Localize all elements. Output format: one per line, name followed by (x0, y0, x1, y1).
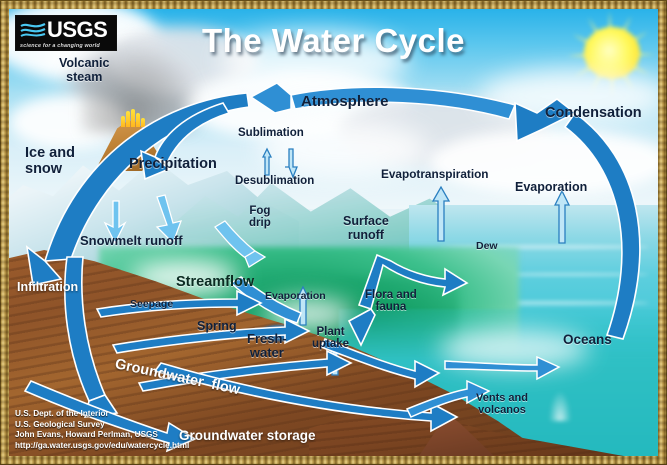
water-cycle-poster: Volcanic steam Ice and snow Precipitatio… (0, 0, 667, 465)
desublimation-down-arrow (285, 149, 297, 177)
label-surface-runoff: Surface runoff (343, 215, 389, 242)
usgs-tagline: science for a changing world (20, 43, 100, 49)
label-freshwater: Fresh- water (247, 332, 287, 360)
label-fog-drip: Fog drip (249, 205, 271, 230)
credits-block: U.S. Dept. of the Interior U.S. Geologic… (15, 409, 189, 452)
label-oceans: Oceans (563, 333, 612, 348)
surface-runoff-down-arrowhead (349, 309, 375, 345)
usgs-wordmark: USGS (47, 17, 107, 43)
label-seepage: Seepage (130, 299, 173, 310)
diagram-canvas: Volcanic steam Ice and snow Precipitatio… (9, 9, 658, 456)
evapotranspiration-up-arrow (433, 187, 449, 241)
label-flora-and-fauna: Flora and fauna (365, 289, 417, 314)
label-evaporation-right: Evaporation (515, 181, 587, 195)
infiltration-arrow (65, 257, 105, 401)
credit-line-2: U.S. Geological Survey (15, 420, 189, 431)
condensation-arc-arrow (565, 113, 640, 339)
label-evapotranspiration: Evapotranspiration (381, 168, 489, 181)
label-atmosphere: Atmosphere (301, 94, 389, 110)
label-evaporation-small: Evaporation (265, 291, 326, 302)
label-volcanic-steam: Volcanic steam (59, 57, 109, 84)
atmosphere-arrowhead (251, 83, 291, 113)
coastal-discharge-arrow (445, 357, 559, 379)
label-plant-uptake: Plant uptake (312, 326, 349, 351)
label-groundwater-storage: Groundwater storage (179, 429, 316, 444)
usgs-logo: USGS science for a changing world (15, 15, 117, 51)
usgs-wave-icon (20, 21, 46, 39)
label-snowmelt-runoff: Snowmelt runoff (80, 234, 183, 248)
label-infiltration: Infiltration (17, 281, 78, 295)
label-precipitation: Precipitation (129, 157, 217, 173)
label-condensation: Condensation (545, 106, 642, 122)
sublimation-up-arrow (263, 149, 271, 175)
credit-line-1: U.S. Dept. of the Interior (15, 409, 189, 420)
credit-line-3: John Evans, Howard Perlman, USGS (15, 430, 189, 441)
label-spring: Spring (197, 320, 237, 334)
label-sublimation: Sublimation (238, 127, 304, 139)
credit-url: http://ga.water.usgs.gov/edu/watercycle.… (15, 441, 189, 452)
label-vents-and-volcanos: Vents and volcanos (476, 393, 528, 417)
label-streamflow: Streamflow (176, 275, 254, 291)
label-desublimation: Desublimation (235, 175, 314, 187)
label-dew: Dew (476, 241, 498, 252)
evaporation-up-arrow (555, 191, 569, 243)
label-ice-and-snow: Ice and snow (25, 146, 75, 177)
seepage-arrow (97, 291, 261, 317)
